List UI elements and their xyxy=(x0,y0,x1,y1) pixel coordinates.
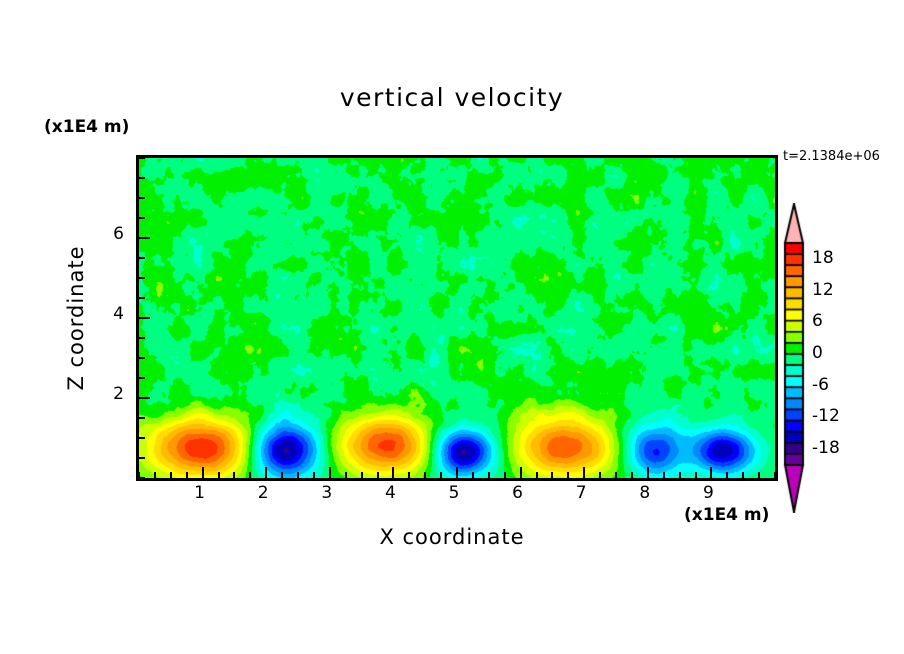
x-tick-minor xyxy=(233,472,235,478)
plot-area xyxy=(136,155,778,481)
y-tick-minor xyxy=(139,257,145,259)
x-tick-label: 1 xyxy=(180,483,220,503)
y-tick-label: 4 xyxy=(84,304,124,324)
x-tick-label: 4 xyxy=(370,483,410,503)
y-tick-minor xyxy=(139,477,145,479)
colorbar-tick-label: 18 xyxy=(812,248,834,268)
y-tick-minor xyxy=(139,277,145,279)
figure-canvas: vertical velocity (x1E4 m) t=2.1384e+06 … xyxy=(0,0,904,654)
y-tick-minor xyxy=(139,297,145,299)
x-tick-label: 6 xyxy=(498,483,538,503)
x-tick-major xyxy=(710,467,712,478)
x-tick-minor xyxy=(249,472,251,478)
y-tick-major xyxy=(139,317,150,319)
y-axis-unit-label: (x1E4 m) xyxy=(44,117,129,137)
colorbar xyxy=(779,203,809,513)
x-tick-minor xyxy=(297,472,299,478)
x-tick-minor xyxy=(170,472,172,478)
x-tick-major xyxy=(329,467,331,478)
y-axis-title: Z coordinate xyxy=(64,208,88,428)
x-tick-minor xyxy=(663,472,665,478)
x-tick-minor xyxy=(186,472,188,478)
x-tick-minor xyxy=(154,472,156,478)
x-tick-minor xyxy=(361,472,363,478)
x-tick-minor xyxy=(599,472,601,478)
x-tick-minor xyxy=(679,472,681,478)
x-tick-label: 8 xyxy=(625,483,665,503)
colorbar-tick-label: 12 xyxy=(812,280,834,300)
x-tick-major xyxy=(392,467,394,478)
y-tick-minor xyxy=(139,377,145,379)
x-tick-minor xyxy=(281,472,283,478)
x-tick-label: 7 xyxy=(561,483,601,503)
y-tick-major xyxy=(139,397,150,399)
x-tick-major xyxy=(583,467,585,478)
colorbar-tick-label: 0 xyxy=(812,343,823,363)
x-tick-minor xyxy=(774,472,776,478)
x-axis-title: X coordinate xyxy=(0,525,904,549)
y-tick-minor xyxy=(139,417,145,419)
x-tick-minor xyxy=(472,472,474,478)
y-tick-minor xyxy=(139,197,145,199)
x-tick-minor xyxy=(536,472,538,478)
y-tick-minor xyxy=(139,217,145,219)
x-tick-label: 3 xyxy=(307,483,347,503)
x-tick-minor xyxy=(695,472,697,478)
x-tick-minor xyxy=(218,472,220,478)
y-tick-minor xyxy=(139,457,145,459)
x-tick-minor xyxy=(758,472,760,478)
colorbar-tick-label: -12 xyxy=(812,406,840,426)
x-axis-unit-label: (x1E4 m) xyxy=(684,505,769,525)
y-tick-minor xyxy=(139,157,145,159)
x-tick-minor xyxy=(488,472,490,478)
y-tick-minor xyxy=(139,437,145,439)
x-tick-minor xyxy=(424,472,426,478)
x-tick-major xyxy=(647,467,649,478)
colorbar-tick-label: -6 xyxy=(812,375,829,395)
y-tick-label: 6 xyxy=(84,224,124,244)
x-tick-minor xyxy=(313,472,315,478)
contour-field xyxy=(139,158,775,478)
y-tick-minor xyxy=(139,357,145,359)
y-tick-major xyxy=(139,237,150,239)
x-tick-minor xyxy=(742,472,744,478)
x-tick-major xyxy=(265,467,267,478)
x-tick-minor xyxy=(408,472,410,478)
x-tick-major xyxy=(520,467,522,478)
x-tick-label: 2 xyxy=(243,483,283,503)
x-tick-minor xyxy=(551,472,553,478)
x-tick-major xyxy=(202,467,204,478)
y-tick-label: 2 xyxy=(84,384,124,404)
colorbar-tick-label: -18 xyxy=(812,438,840,458)
x-tick-major xyxy=(456,467,458,478)
x-tick-label: 5 xyxy=(434,483,474,503)
x-tick-minor xyxy=(631,472,633,478)
x-tick-minor xyxy=(567,472,569,478)
colorbar-tick-label: 6 xyxy=(812,311,823,331)
x-tick-minor xyxy=(504,472,506,478)
colorbar-gradient xyxy=(779,203,809,513)
x-tick-minor xyxy=(377,472,379,478)
y-tick-minor xyxy=(139,177,145,179)
timestamp-label: t=2.1384e+06 xyxy=(783,149,880,164)
x-tick-minor xyxy=(615,472,617,478)
x-tick-minor xyxy=(726,472,728,478)
x-tick-label: 9 xyxy=(688,483,728,503)
y-tick-minor xyxy=(139,337,145,339)
x-tick-minor xyxy=(440,472,442,478)
page-title: vertical velocity xyxy=(0,83,904,112)
x-tick-minor xyxy=(345,472,347,478)
